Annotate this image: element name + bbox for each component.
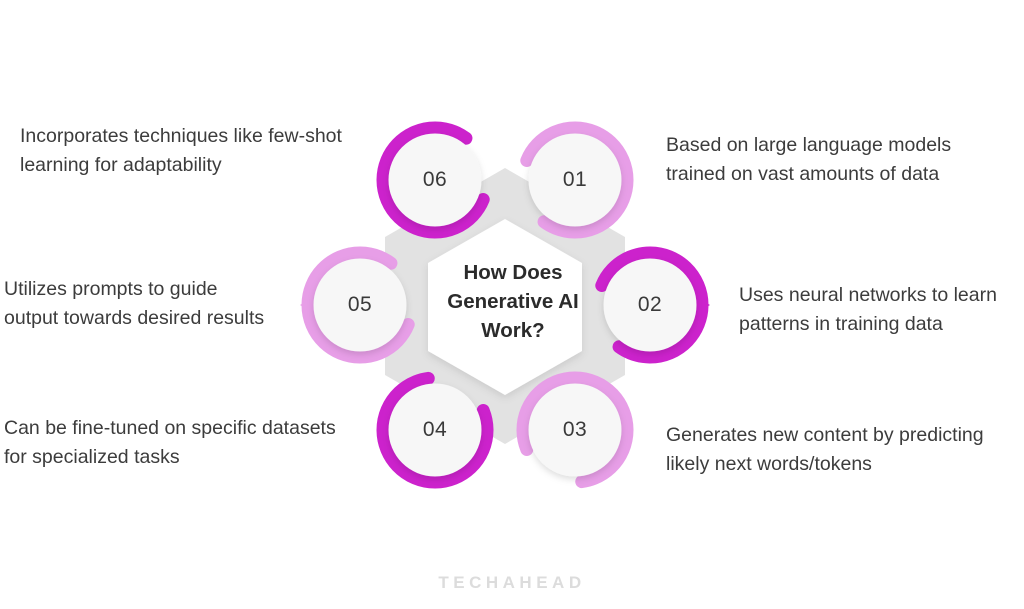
node-02-number: 02 [595, 293, 705, 317]
node-04-caption: Can be fine-tuned on specific datasets f… [4, 414, 374, 471]
watermark-logo: TECHAHEAD [0, 573, 1024, 593]
node-02-caption-line-1: Uses neural networks to learn [739, 281, 1024, 310]
node-01-caption-line-1: Based on large language models [666, 131, 1016, 160]
center-title-line-3: Work? [422, 316, 604, 345]
node-06-number: 06 [380, 168, 490, 192]
node-01-number: 01 [520, 168, 630, 192]
node-04-caption-line-2: for specialized tasks [4, 443, 374, 472]
infographic-canvas: 06 01 02 05 04 03 How Does Generative AI… [0, 0, 1024, 609]
node-05-caption-line-1: Utilizes prompts to guide [4, 275, 304, 304]
node-02-caption: Uses neural networks to learn patterns i… [739, 281, 1024, 338]
center-title-line-1: How Does [422, 258, 604, 287]
node-04-number: 04 [380, 418, 490, 442]
center-title-line-2: Generative AI [422, 287, 604, 316]
node-01-caption-line-2: trained on vast amounts of data [666, 160, 1016, 189]
node-03-number: 03 [520, 418, 630, 442]
node-02-caption-line-2: patterns in training data [739, 310, 1024, 339]
node-01-caption: Based on large language models trained o… [666, 131, 1016, 188]
node-04-caption-line-1: Can be fine-tuned on specific datasets [4, 414, 374, 443]
node-05-number: 05 [305, 293, 415, 317]
node-06-caption-line-2: learning for adaptability [20, 151, 380, 180]
node-03-caption: Generates new content by predicting like… [666, 421, 1016, 478]
node-06-caption: Incorporates techniques like few-shot le… [20, 122, 380, 179]
node-05-caption: Utilizes prompts to guide output towards… [4, 275, 304, 332]
node-06-caption-line-1: Incorporates techniques like few-shot [20, 122, 380, 151]
diagram-stage: 06 01 02 05 04 03 How Does Generative AI… [0, 0, 1024, 609]
center-title: How Does Generative AI Work? [422, 258, 604, 345]
node-05-caption-line-2: output towards desired results [4, 304, 304, 333]
node-03-caption-line-1: Generates new content by predicting [666, 421, 1016, 450]
node-03-caption-line-2: likely next words/tokens [666, 450, 1016, 479]
